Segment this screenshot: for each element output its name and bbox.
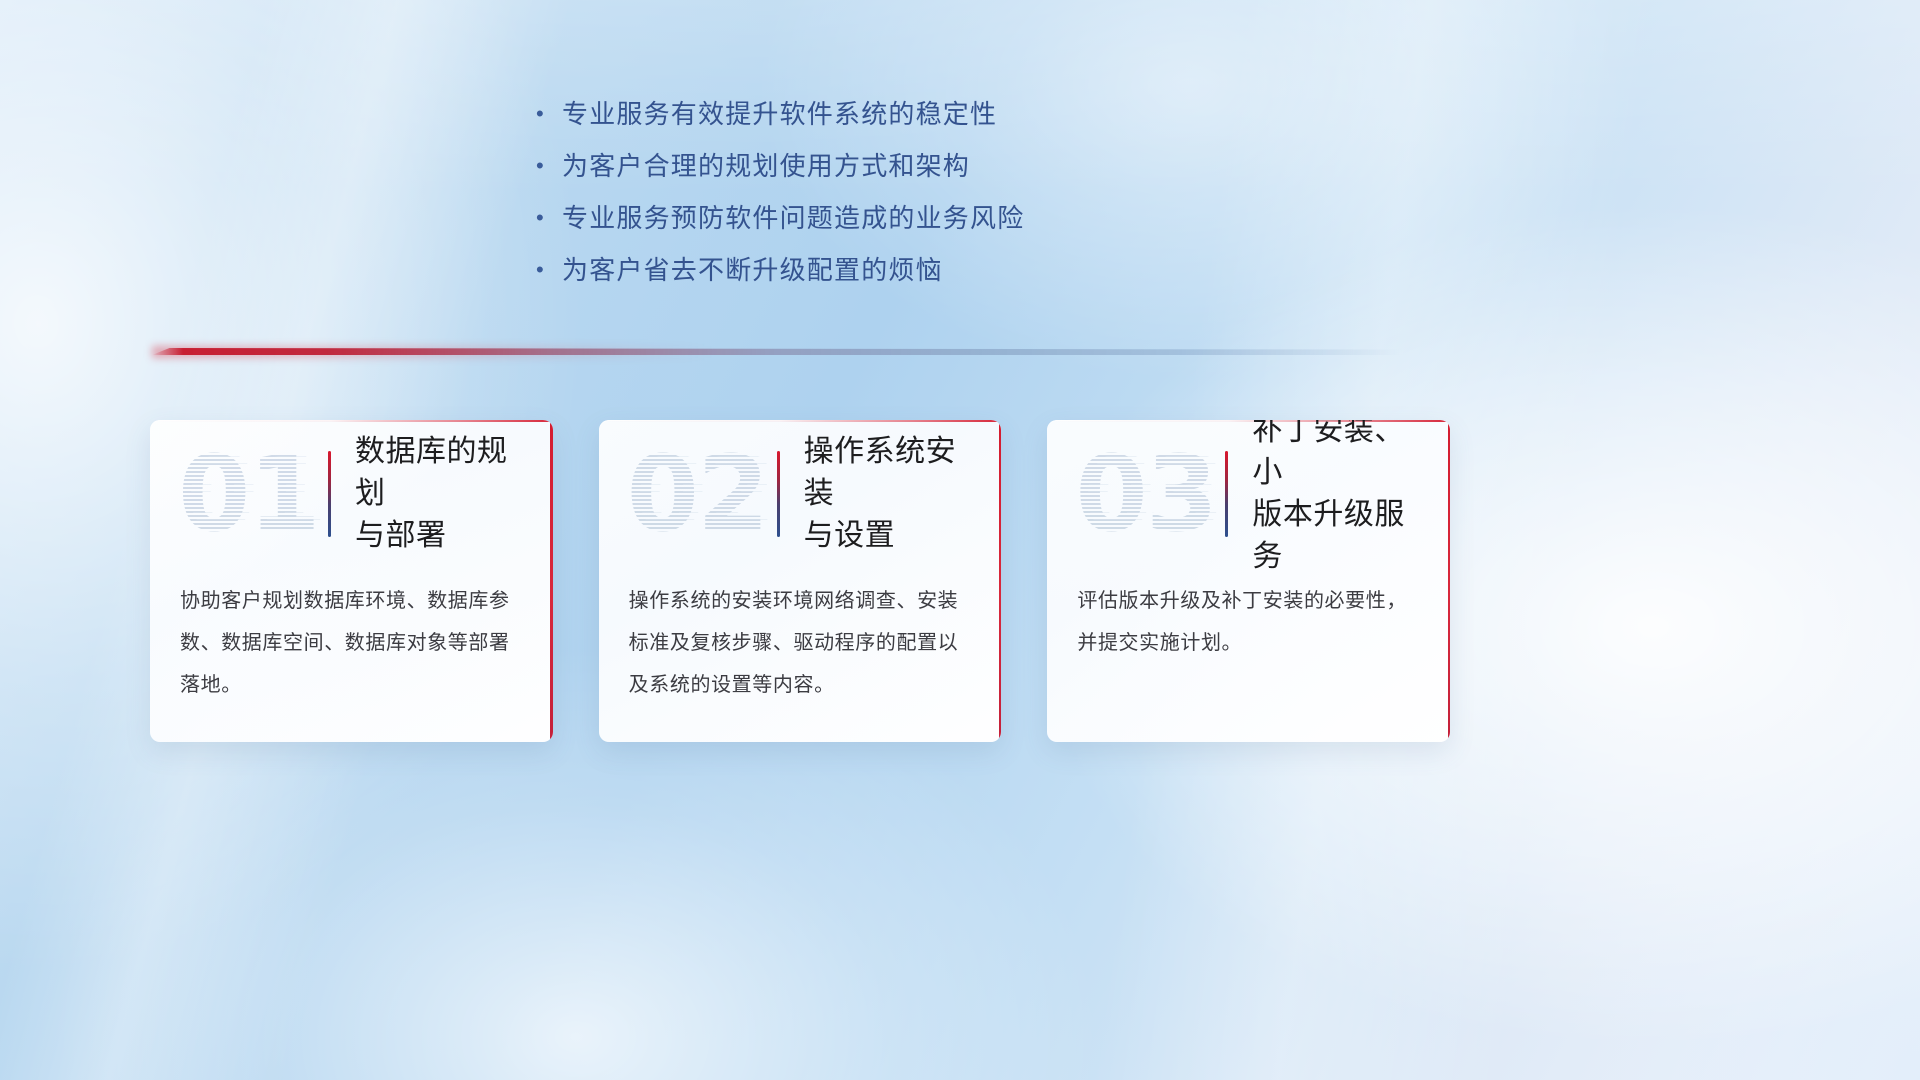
card-title: 补丁安装、小 版本升级服务 <box>1252 420 1426 578</box>
list-item: • 为客户合理的规划使用方式和架构 <box>536 140 1296 192</box>
bullet-marker-icon: • <box>536 140 562 192</box>
card-number-watermark: 02 02 <box>627 439 777 549</box>
bullet-marker-icon: • <box>536 88 562 140</box>
bullet-marker-icon: • <box>536 244 562 296</box>
divider-line <box>152 348 1400 355</box>
card-accent-bar <box>328 451 331 537</box>
list-item: • 专业服务有效提升软件系统的稳定性 <box>536 88 1296 140</box>
service-card-02[interactable]: 02 02 操作系统安装 与设置 操作系统的安装环境网络调查、安装标准及复核步骤… <box>599 420 1002 742</box>
bullet-text-1: 专业服务有效提升软件系统的稳定性 <box>562 88 997 140</box>
service-card-row: 01 01 数据库的规划 与部署 协助客户规划数据库环境、数据库参数、数据库空间… <box>150 420 1450 742</box>
benefits-bullet-list: • 专业服务有效提升软件系统的稳定性 • 为客户合理的规划使用方式和架构 • 专… <box>536 88 1296 296</box>
card-header: 02 02 操作系统安装 与设置 <box>599 420 1002 568</box>
bullet-text-4: 为客户省去不断升级配置的烦恼 <box>562 244 943 296</box>
card-description: 评估版本升级及补丁安装的必要性，并提交实施计划。 <box>1047 568 1450 664</box>
card-title: 操作系统安装 与设置 <box>804 431 978 557</box>
section-divider <box>152 344 1400 362</box>
card-accent-bar <box>777 451 780 537</box>
list-item: • 专业服务预防软件问题造成的业务风险 <box>536 192 1296 244</box>
card-number-watermark-overlay: 02 <box>632 439 788 549</box>
service-card-03[interactable]: 03 03 补丁安装、小 版本升级服务 评估版本升级及补丁安装的必要性，并提交实… <box>1047 420 1450 742</box>
card-number-watermark-overlay: 03 <box>1080 439 1236 549</box>
card-header: 03 03 补丁安装、小 版本升级服务 <box>1047 420 1450 568</box>
bullet-marker-icon: • <box>536 192 562 244</box>
card-number-watermark: 03 03 <box>1075 439 1225 549</box>
card-title: 数据库的规划 与部署 <box>355 431 529 557</box>
bullet-text-3: 专业服务预防软件问题造成的业务风险 <box>562 192 1024 244</box>
list-item: • 为客户省去不断升级配置的烦恼 <box>536 244 1296 296</box>
card-description: 协助客户规划数据库环境、数据库参数、数据库空间、数据库对象等部署落地。 <box>150 568 553 706</box>
card-accent-bar <box>1225 451 1228 537</box>
card-description: 操作系统的安装环境网络调查、安装标准及复核步骤、驱动程序的配置以及系统的设置等内… <box>599 568 1002 706</box>
card-header: 01 01 数据库的规划 与部署 <box>150 420 553 568</box>
bullet-text-2: 为客户合理的规划使用方式和架构 <box>562 140 970 192</box>
card-number-watermark-overlay: 01 <box>183 439 339 549</box>
slide-canvas: • 专业服务有效提升软件系统的稳定性 • 为客户合理的规划使用方式和架构 • 专… <box>0 0 1920 1080</box>
service-card-01[interactable]: 01 01 数据库的规划 与部署 协助客户规划数据库环境、数据库参数、数据库空间… <box>150 420 553 742</box>
card-number-watermark: 01 01 <box>178 439 328 549</box>
